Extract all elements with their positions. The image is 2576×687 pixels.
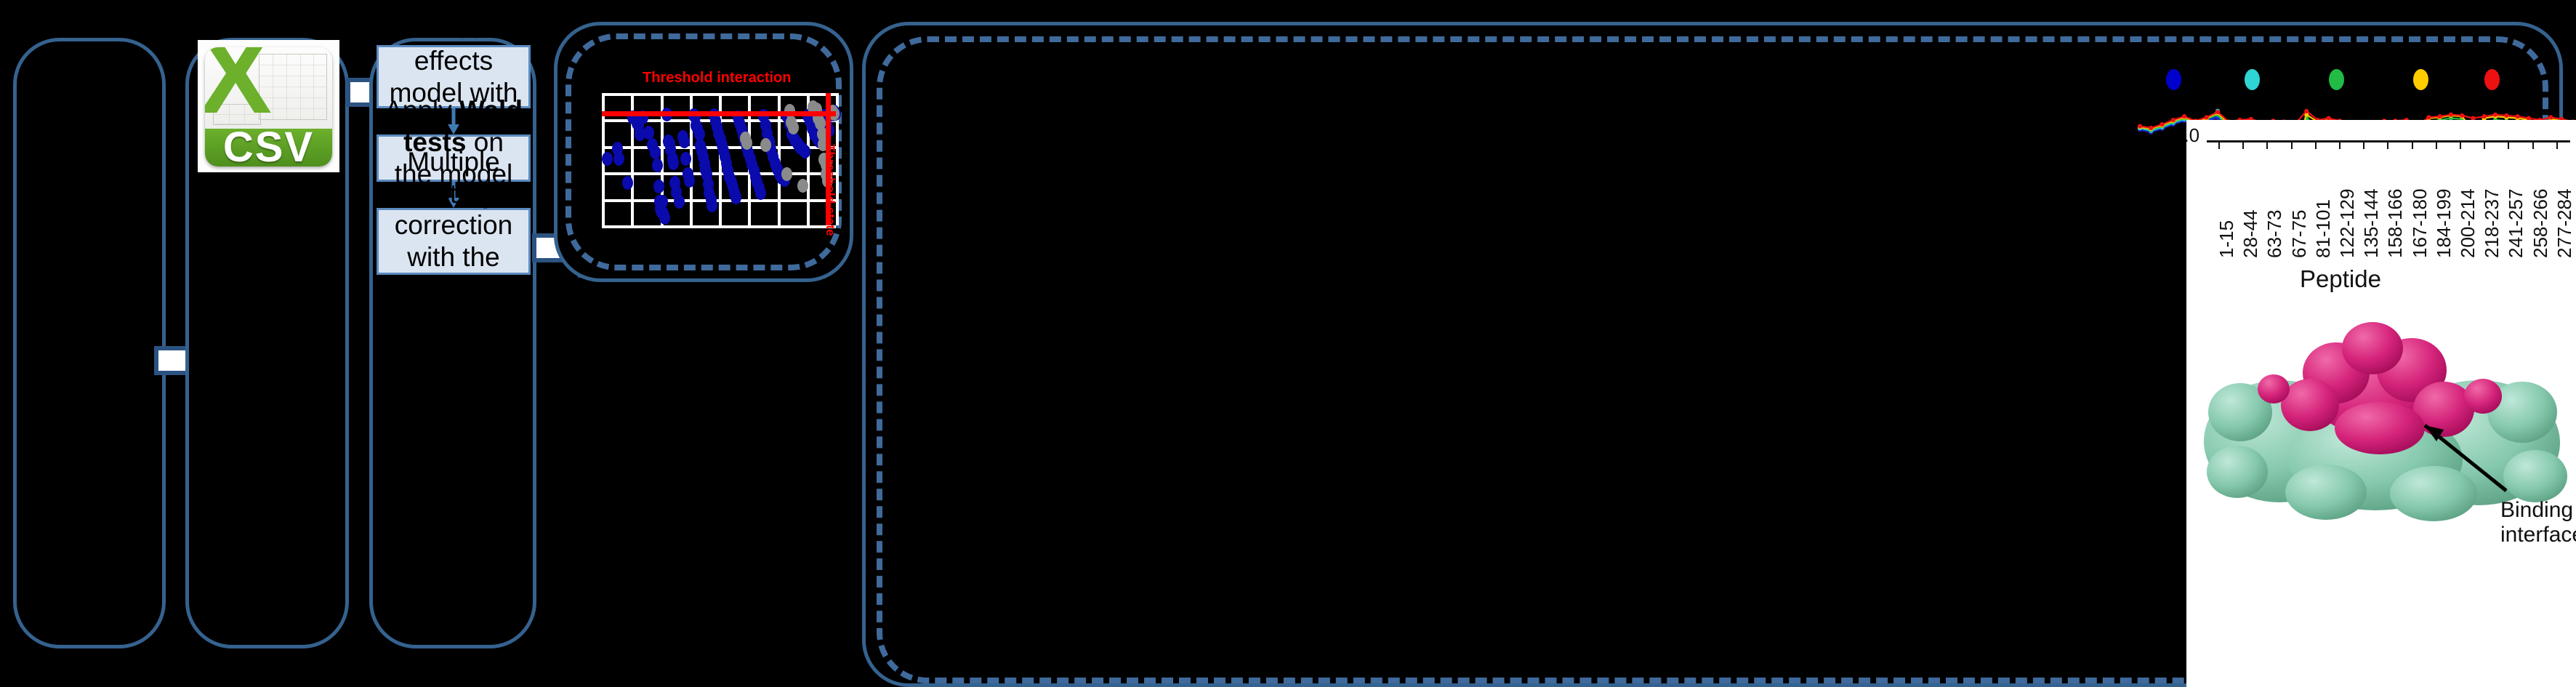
line-marker: [2426, 115, 2431, 119]
scatter-point: [613, 152, 624, 166]
line-marker: [2438, 114, 2442, 118]
x-tick-label: 135-144: [2360, 189, 2383, 258]
x-tick-label: 63-73: [2263, 210, 2286, 259]
x-tick-label: 28-44: [2239, 210, 2262, 259]
scatter-point: [674, 195, 685, 209]
line-marker: [2449, 113, 2453, 117]
line-marker: [2160, 122, 2164, 126]
scatter-point: [652, 158, 663, 172]
x-tick-label: 158-166: [2384, 189, 2407, 258]
scatter-point: [755, 186, 766, 200]
x-axis-tick-mark: [2484, 140, 2485, 149]
scatter-point: [679, 134, 690, 148]
scatter-point: [788, 121, 799, 134]
line-marker: [2182, 114, 2186, 118]
x-tick-label: 122-129: [2336, 189, 2359, 258]
x-tick-label: 258-266: [2529, 189, 2552, 258]
line-marker: [2515, 114, 2519, 118]
x-tick-label: 218-237: [2481, 189, 2503, 258]
line-marker: [2493, 113, 2497, 117]
threshold-scatter-plot[interactable]: [602, 93, 836, 225]
line-marker: [2138, 124, 2142, 128]
line-marker: [2215, 110, 2220, 114]
x-axis-tick-mark: [2218, 140, 2220, 149]
stage-input-box: [13, 38, 166, 648]
x-tick-label: 81-101: [2312, 199, 2335, 258]
scatter-point: [781, 167, 792, 181]
x-tick-label: 184-199: [2433, 189, 2455, 258]
binding-interface-annotation: Binding interface: [2500, 498, 2576, 547]
process-step-bh-text: Multiple testing correction with the BH …: [385, 146, 523, 337]
scatter-point: [650, 145, 661, 159]
scatter-point: [800, 145, 810, 158]
scatter-point: [707, 198, 717, 212]
csv-file-icon: X CSV: [198, 40, 339, 172]
peptide-structure-panel: 0.0 1-1528-4463-7367-7581-101122-129135-…: [2186, 120, 2576, 687]
x-axis-tick-mark: [2532, 140, 2534, 149]
line-marker: [2548, 115, 2553, 119]
line-marker: [2482, 114, 2487, 118]
x-axis-title: Peptide: [2300, 265, 2381, 293]
x-tick-label: 241-257: [2505, 189, 2527, 258]
x-axis-tick-mark: [2291, 140, 2293, 149]
flow-diagram-canvas: X CSV Fit a linear mixed-effects model w…: [0, 0, 2576, 687]
x-tick-label: 200-214: [2457, 189, 2479, 258]
x-axis-tick-mark: [2339, 140, 2340, 149]
x-tick-label: 67-75: [2288, 210, 2311, 259]
x-axis-tick-mark: [2315, 140, 2317, 149]
x-axis-tick-mark: [2242, 140, 2244, 149]
scatter-point: [668, 156, 679, 170]
scatter-point: [741, 136, 752, 150]
line-marker: [2171, 118, 2175, 122]
x-tick-label: 167-180: [2409, 189, 2431, 258]
x-axis-tick-mark: [2436, 140, 2437, 149]
scatter-gridline-h: [602, 225, 836, 228]
y-axis-tick-0: 0.0: [2186, 124, 2199, 147]
csv-x-letter: X: [210, 49, 261, 100]
line-marker: [2205, 115, 2209, 119]
process-step-bh[interactable]: Multiple testing correction with the BH …: [377, 208, 531, 275]
x-axis-tick-mark: [2363, 140, 2364, 149]
threshold-interaction-label: Threshold interaction: [643, 70, 791, 87]
x-axis-tick-mark: [2508, 140, 2509, 149]
scatter-point: [730, 190, 741, 204]
x-axis-tick-mark: [2556, 140, 2558, 149]
x-axis-tick-mark: [2387, 140, 2388, 149]
line-marker: [2504, 113, 2508, 118]
line-marker: [2304, 109, 2309, 113]
x-tick-label: 1-15: [2215, 220, 2238, 258]
x-axis-tick-mark: [2266, 140, 2268, 149]
scatter-point: [602, 152, 613, 166]
x-axis-tick-mark: [2460, 140, 2461, 149]
line-marker: [2149, 126, 2153, 130]
x-tick-label: 277-284: [2553, 189, 2576, 258]
scatter-plot-area: [602, 93, 836, 225]
scatter-point: [684, 174, 695, 188]
threshold-line-horizontal: [602, 111, 836, 116]
csv-label: CSV: [223, 123, 314, 166]
x-axis-tick-mark: [2412, 140, 2413, 149]
scatter-point: [659, 211, 670, 225]
line-marker: [2460, 113, 2464, 118]
threshold-state-label: Threshold state: [823, 144, 837, 236]
scatter-point: [643, 126, 654, 140]
